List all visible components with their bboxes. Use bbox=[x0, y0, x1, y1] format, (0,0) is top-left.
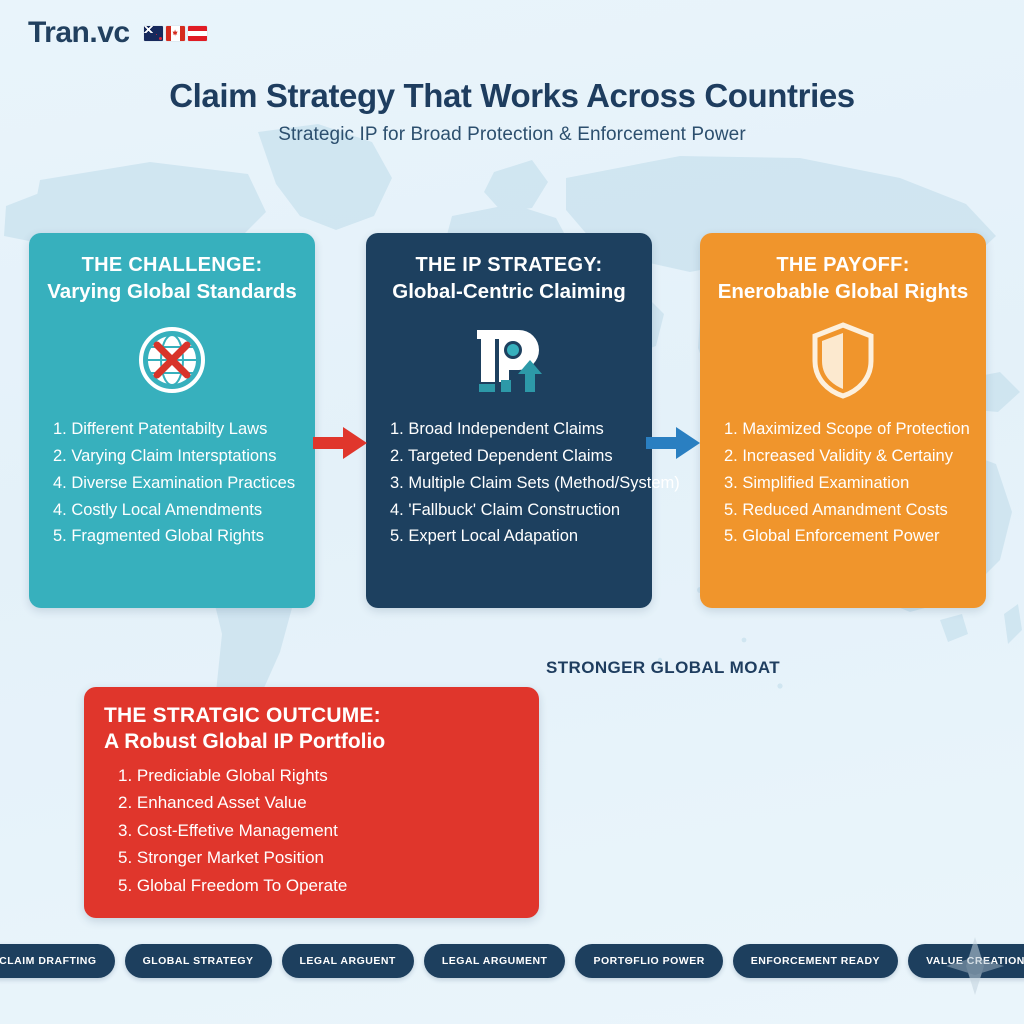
anz-flag-icon bbox=[144, 26, 163, 41]
list-item: 5. Fragmented Global Rights bbox=[43, 523, 301, 550]
list-item: 5. Reduced Amandment Costs bbox=[714, 497, 972, 524]
list-item: 4. Diverse Examination Practices bbox=[43, 470, 301, 497]
arrow-strategy-to-payoff-icon bbox=[646, 423, 701, 463]
card-challenge[interactable]: THE CHALLENGE: Varying Global Standards bbox=[29, 233, 315, 608]
list-item: 1. Prediciable Global Rights bbox=[118, 762, 519, 790]
page-title: Claim Strategy That Works Across Countri… bbox=[0, 78, 1024, 114]
card-payoff-kicker: THE PAYOFF: bbox=[714, 253, 972, 277]
card-payoff-subtitle: Enerobable Global Rights bbox=[714, 279, 972, 304]
list-item: 3. Simplified Examination bbox=[714, 470, 972, 497]
card-ip-strategy[interactable]: THE IP STRATEGY: Global-Centric Claiming bbox=[366, 233, 652, 608]
list-item: 1. Different Patentabilty Laws bbox=[43, 416, 301, 443]
list-item: 4. Costly Local Amendments bbox=[43, 497, 301, 524]
tag-portfolio-power[interactable]: PORTΘFLIO POWER bbox=[575, 944, 722, 978]
card-payoff[interactable]: THE PAYOFF: Enerobable Global Rights 1. … bbox=[700, 233, 986, 608]
headline-block: Claim Strategy That Works Across Countri… bbox=[0, 78, 1024, 146]
tag-legal-arguent[interactable]: LEGAL ARGUENT bbox=[282, 944, 414, 978]
list-item: 5. Global Enforcement Power bbox=[714, 523, 972, 550]
tag-legal-argument[interactable]: LEGAL ARGUMENT bbox=[424, 944, 566, 978]
list-item: 2. Enhanced Asset Value bbox=[118, 789, 519, 817]
list-item: 1. Broad Independent Claims bbox=[380, 416, 638, 443]
list-item: 3. Cost-Effetive Management bbox=[118, 817, 519, 845]
card-payoff-title: THE PAYOFF: Enerobable Global Rights bbox=[714, 253, 972, 304]
list-item: 5. Stronger Market Position bbox=[118, 844, 519, 872]
shield-icon bbox=[714, 308, 972, 412]
tag-enforcement-ready[interactable]: ENFORCEMENT READY bbox=[733, 944, 898, 978]
list-item: 4. 'Fallbuck' Claim Construction bbox=[380, 497, 638, 524]
list-item: 5. Expert Local Adapation bbox=[380, 523, 638, 550]
list-item: 2. Increased Validity & Certainy bbox=[714, 443, 972, 470]
stronger-global-moat-label: STRONGER GLOBAL MOAT bbox=[546, 658, 780, 678]
brand-name: Tran.vc bbox=[28, 18, 130, 48]
list-item: 2. Varying Claim Intersptations bbox=[43, 443, 301, 470]
card-strategic-outcome-list: 1. Prediciable Global Rights 2. Enhanced… bbox=[104, 762, 519, 900]
card-ip-strategy-title: THE IP STRATEGY: Global-Centric Claiming bbox=[380, 253, 638, 304]
page-subtitle: Strategic IP for Broad Protection & Enfo… bbox=[0, 124, 1024, 146]
austria-flag-icon bbox=[188, 26, 207, 41]
card-challenge-subtitle: Varying Global Standards bbox=[43, 279, 301, 304]
list-item: 3. Multiple Claim Sets (Method/System) bbox=[380, 470, 638, 497]
card-challenge-list: 1. Different Patentabilty Laws 2. Varyin… bbox=[43, 416, 301, 550]
list-item: 1. Maximized Scope of Protection bbox=[714, 416, 972, 443]
flag-row bbox=[144, 26, 207, 41]
card-strategic-outcome-subtitle: A Robust Global IP Portfolio bbox=[104, 729, 519, 755]
canada-flag-icon bbox=[166, 26, 185, 41]
tag-value-creation[interactable]: VALUE CREATION bbox=[908, 944, 1024, 978]
cards-row: THE CHALLENGE: Varying Global Standards bbox=[0, 233, 1024, 608]
tag-row: CLAIM DRAFTING GLOBAL STRATEGY LEGAL ARG… bbox=[0, 944, 1024, 978]
card-challenge-kicker: THE CHALLENGE: bbox=[43, 253, 301, 277]
card-ip-strategy-kicker: THE IP STRATEGY: bbox=[380, 253, 638, 277]
card-ip-strategy-subtitle: Global-Centric Claiming bbox=[380, 279, 638, 304]
list-item: 2. Targeted Dependent Claims bbox=[380, 443, 638, 470]
arrow-challenge-to-strategy-icon bbox=[313, 423, 368, 463]
card-strategic-outcome-title: THE STRATGIC OUTCUME: A Robust Global IP… bbox=[104, 703, 519, 756]
tag-claim-drafting[interactable]: CLAIM DRAFTING bbox=[0, 944, 115, 978]
card-strategic-outcome[interactable]: THE STRATGIC OUTCUME: A Robust Global IP… bbox=[84, 687, 539, 918]
brand-lockup: Tran.vc bbox=[28, 18, 207, 48]
tag-global-strategy[interactable]: GLOBAL STRATEGY bbox=[125, 944, 272, 978]
card-strategic-outcome-kicker: THE STRATGIC OUTCUME: bbox=[104, 703, 519, 729]
card-payoff-list: 1. Maximized Scope of Protection 2. Incr… bbox=[714, 416, 972, 550]
infographic-poster: Tran.vc Claim Strategy That Works Across… bbox=[0, 0, 1024, 1024]
list-item: 5. Global Freedom To Operate bbox=[118, 872, 519, 900]
card-ip-strategy-list: 1. Broad Independent Claims 2. Targeted … bbox=[380, 416, 638, 550]
globe-with-red-x-icon bbox=[43, 308, 301, 412]
card-challenge-title: THE CHALLENGE: Varying Global Standards bbox=[43, 253, 301, 304]
ip-letterform-growth-arrow-icon bbox=[380, 308, 638, 412]
